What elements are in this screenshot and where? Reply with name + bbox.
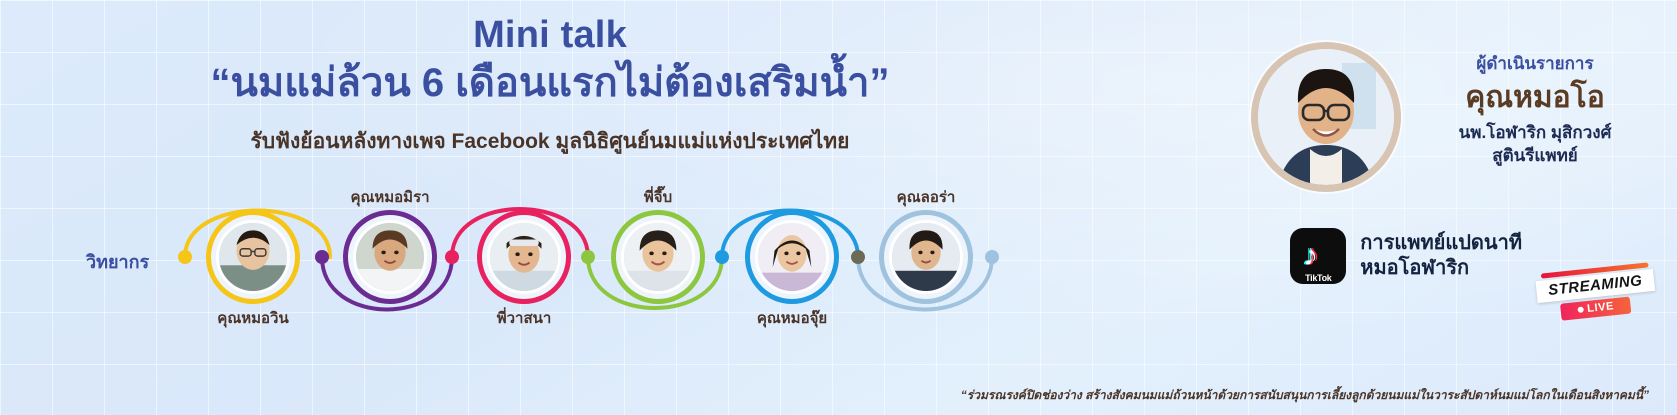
speaker-caption-4: พี่จี๊บ (644, 185, 672, 209)
speaker-caption-5: คุณหมอจุ๊ย (757, 306, 827, 330)
speaker-photo-2 (353, 220, 427, 294)
speaker-timeline: วิทยากร (0, 175, 1070, 350)
speaker-avatar-ring-5: คุณหมอจุ๊ย (745, 210, 839, 304)
host-panel: ผู้ดำเนินรายการ คุณหมอโอ นพ.โอฬาริก มุสิ… (1251, 42, 1651, 222)
speaker-avatar-ring-1: คุณหมอวิน (206, 210, 300, 304)
speaker-avatar-ring-2: คุณหมอมิรา (343, 210, 437, 304)
speaker-caption-2: คุณหมอมิรา (350, 185, 429, 209)
tiktok-wordmark: TikTok (1290, 273, 1346, 283)
host-fullname: นพ.โอฬาริก มุสิกวงศ์ (1419, 122, 1651, 145)
headline-subtitle: รับฟังย้อนหลังทางเพจ Facebook มูลนิธิศูน… (0, 125, 1100, 158)
live-dot-icon (1577, 306, 1584, 313)
event-banner: Mini talk “นมแม่ล้วน 6 เดือนแรกไม่ต้องเส… (0, 0, 1677, 415)
speaker-photo-4 (621, 220, 695, 294)
speaker-photo-5 (755, 220, 829, 294)
tiktok-channel-line2: หมอโอฬาริก (1360, 256, 1522, 281)
speaker-caption-1: คุณหมอวิน (217, 306, 288, 330)
speaker-node-6[interactable]: คุณลอร่า (879, 210, 973, 304)
headline-block: Mini talk “นมแม่ล้วน 6 เดือนแรกไม่ต้องเส… (0, 14, 1100, 158)
tiktok-channel[interactable]: ♪ ♪ ♪ TikTok การแพทย์แปดนาที หมอโอฬาริก (1290, 228, 1522, 284)
speaker-node-5[interactable]: คุณหมอจุ๊ย (745, 210, 839, 304)
live-badge: LIVE (1560, 297, 1631, 321)
speaker-photo-1 (216, 220, 290, 294)
speaker-node-4[interactable]: พี่จี๊บ (611, 210, 705, 304)
speaker-avatar-ring-4: พี่จี๊บ (611, 210, 705, 304)
speaker-node-2[interactable]: คุณหมอมิรา (343, 210, 437, 304)
speaker-node-1[interactable]: คุณหมอวิน (206, 210, 300, 304)
tiktok-note-white: ♪ (1303, 241, 1318, 271)
live-label: LIVE (1587, 300, 1615, 315)
tiktok-icon[interactable]: ♪ ♪ ♪ TikTok (1290, 228, 1346, 284)
headline-title: Mini talk (0, 14, 1100, 57)
speaker-caption-6: คุณลอร่า (897, 185, 956, 209)
tiktok-channel-name: การแพทย์แปดนาที หมอโอฬาริก (1360, 231, 1522, 281)
host-info: ผู้ดำเนินรายการ คุณหมอโอ นพ.โอฬาริก มุสิ… (1419, 50, 1651, 168)
host-specialty: สูตินรีแพทย์ (1419, 145, 1651, 168)
tiktok-channel-line1: การแพทย์แปดนาที (1360, 231, 1522, 256)
speaker-photo-3 (487, 220, 561, 294)
tiktok-note-glyph: ♪ ♪ ♪ (1303, 240, 1333, 272)
speaker-node-3[interactable]: พี่วาสนา (477, 210, 571, 304)
speaker-caption-3: พี่วาสนา (497, 306, 552, 330)
speaker-photo-6 (889, 220, 963, 294)
headline-subject: “นมแม่ล้วน 6 เดือนแรกไม่ต้องเสริมน้ำ” (0, 59, 1100, 107)
footer-tagline: “ร่วมรณรงค์ปิดช่องว่าง สร้างสังคมนมแม่ถ้… (961, 386, 1649, 405)
host-avatar (1251, 42, 1401, 192)
streaming-badge: STREAMING LIVE (1535, 262, 1657, 323)
speaker-avatar-ring-6: คุณลอร่า (879, 210, 973, 304)
host-role: ผู้ดำเนินรายการ (1419, 50, 1651, 77)
speaker-avatar-ring-3: พี่วาสนา (477, 210, 571, 304)
host-nickname: คุณหมอโอ (1419, 81, 1651, 114)
